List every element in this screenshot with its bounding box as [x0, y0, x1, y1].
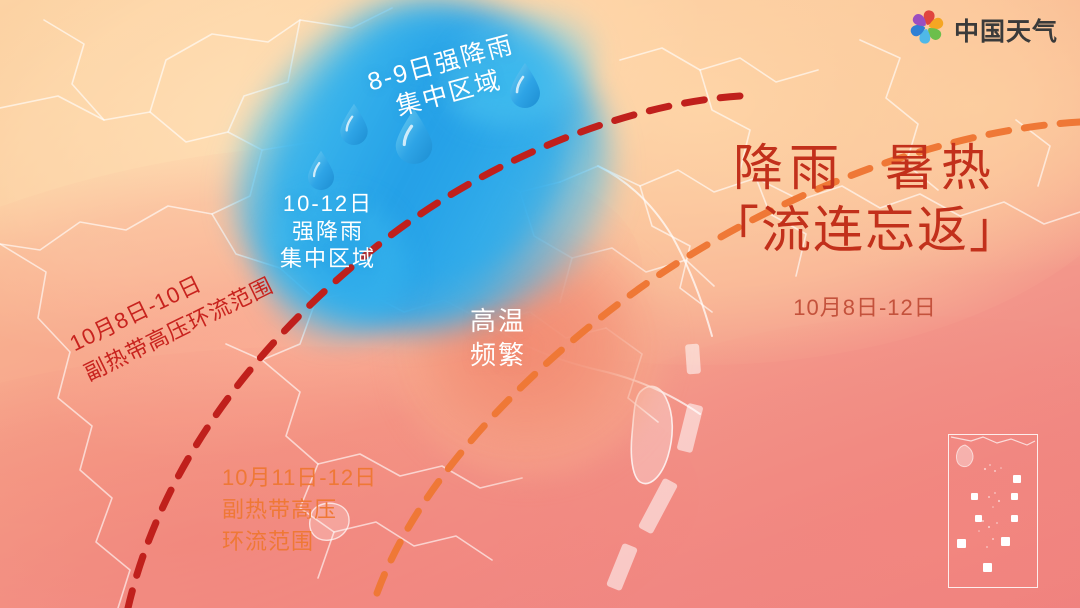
inset-coastline [951, 437, 1035, 445]
orange-contour-label: 10月11日-12日 副热带高压 环流范围 [222, 462, 377, 558]
south-china-sea-inset [948, 434, 1038, 588]
inset-island-marker [971, 493, 978, 500]
inset-island-marker [1013, 475, 1021, 483]
inset-island-marker [975, 515, 982, 522]
headline-block: 降雨 暑热 「流连忘返」 10月8日-12日 [700, 140, 1030, 322]
inset-island-marker [1011, 515, 1018, 522]
headline-date-range: 10月8日-12日 [700, 290, 1030, 322]
headline-primary: 降雨 暑热 [700, 140, 1030, 196]
inset-reef-specks [978, 464, 1002, 548]
inset-island-marker [1011, 493, 1018, 500]
brand-logo: 中国天气 [909, 9, 1058, 50]
rain-label-10-12: 10-12日 强降雨 集中区域 [280, 190, 376, 273]
headline-secondary: 「流连忘返」 [700, 202, 1030, 258]
inset-island-marker [957, 539, 966, 548]
inset-island-marker [1001, 537, 1010, 546]
weather-infographic-poster: 8-9日强降雨 集中区域 10-12日 强降雨 集中区域 高温 频繁 10月8日… [0, 0, 1080, 608]
inset-island-shape [956, 445, 973, 467]
taiwan-island [631, 386, 672, 483]
inset-island-marker [983, 563, 992, 572]
pinwheel-logo-icon [909, 9, 945, 50]
brand-name: 中国天气 [954, 12, 1058, 48]
high-temperature-label: 高温 频繁 [470, 305, 526, 373]
